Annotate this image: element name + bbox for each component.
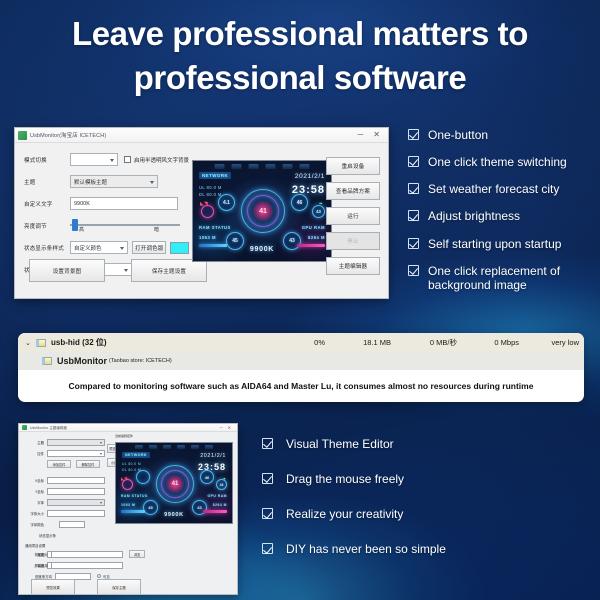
lcd-gauge-5: 45 (226, 232, 244, 250)
label-custom-text: 自定义文字 (24, 200, 70, 208)
editor-lcd-header-decoration (135, 445, 213, 449)
open-palette-button[interactable]: 打开调色版 (132, 241, 166, 254)
list-item: Self starting upon startup (408, 237, 594, 251)
editor-lcd-upload-value: UL 80.0 M (122, 462, 141, 466)
resource-usage-caption: Compared to monitoring software such as … (18, 370, 584, 402)
label-brightness: 亮度调节 (24, 222, 70, 230)
headline-line-1: Leave professional matters to (18, 12, 582, 56)
check-icon (408, 183, 419, 194)
lcd-preview[interactable]: NETWORK UL 80.0 M DL 80.0 M 2021/2/1 23:… (192, 160, 332, 262)
feature-label: Self starting upon startup (428, 237, 561, 251)
lcd-gauge-3: 46 (291, 194, 308, 211)
check-icon (408, 210, 419, 221)
minimize-button[interactable]: ─ (358, 131, 364, 139)
process-name: usb-hid (32 位) (51, 337, 107, 348)
lcd-header-decoration (215, 164, 310, 169)
color-swatch[interactable] (170, 242, 189, 254)
editor-input-y[interactable] (47, 488, 105, 495)
editor-lcd-gpu-bar (203, 510, 227, 513)
stop-button[interactable]: 停止 (326, 232, 380, 250)
list-item: One-button (408, 128, 594, 142)
list-item: Set weather forecast city (408, 182, 594, 196)
stat-disk: 0 MB/秒 (398, 337, 464, 348)
select-statusbar-style[interactable]: 自定义颜色 (70, 241, 128, 254)
feature-label: One click replacement of background imag… (428, 264, 594, 292)
list-item: Visual Theme Editor (262, 437, 592, 451)
editor-select-font[interactable] (47, 499, 105, 506)
form-row-statusbar-style: 状态显示条样式 自定义颜色 打开调色版 (24, 240, 189, 255)
form-row-theme: 主题 默认模板主题 (24, 174, 189, 189)
editor-prop-font: 字体 (25, 498, 105, 506)
editor-input-x[interactable] (47, 477, 105, 484)
page-title: Leave professional matters to profession… (0, 12, 600, 99)
lcd-cpu-core-value: 41 (253, 201, 273, 221)
slider-track (70, 224, 180, 226)
editor-bottom-panel: 背景图片 浏览 屏幕选择 预览效果 保存主题 (25, 550, 175, 595)
editor-label-fontcolor: 字体颜色 (25, 522, 47, 527)
check-icon (408, 265, 419, 276)
editor-app-icon (22, 425, 27, 430)
editor-label-control: 控件 (25, 451, 47, 456)
slider-brightness[interactable]: 高 暗 (70, 219, 180, 233)
editor-label-bgimage: 背景图片 (25, 552, 51, 557)
app-icon (18, 131, 27, 140)
input-custom-text[interactable]: 9900K (70, 197, 178, 210)
list-item: DIY has never been so simple (262, 542, 592, 556)
window-controls: ─ ✕ (358, 131, 385, 139)
select-theme[interactable]: 默认模板主题 (70, 175, 158, 188)
feature-label: One-button (428, 128, 488, 142)
lcd-network-label: NETWORK (199, 172, 231, 179)
editor-title-text: UsbMonitor 主题编辑器 (30, 425, 67, 430)
editor-lcd-cpu-core-value: 41 (166, 475, 184, 493)
editor-close-button[interactable]: ✕ (228, 426, 231, 430)
label-statusbar-style: 状态显示条样式 (24, 244, 70, 252)
editor-lcd-ram-value: 1063 M (121, 503, 135, 507)
check-icon (262, 508, 273, 519)
save-theme-editor-button[interactable]: 保存主题 (97, 579, 141, 595)
check-icon (408, 129, 419, 140)
feature-label: DIY has never been so simple (286, 542, 446, 556)
editor-section-label: 通用项目设置 (25, 543, 105, 548)
label-mode: 模式切换 (24, 156, 70, 164)
theme-editor-button[interactable]: 主题编辑器 (326, 257, 380, 275)
slider-knob[interactable] (72, 219, 78, 231)
table-row-child[interactable]: UsbMonitor (Taobao store: ICETECH) (18, 352, 584, 370)
editor-input-bgimage[interactable] (51, 551, 123, 558)
check-icon (262, 473, 273, 484)
editor-input-fontsize[interactable] (47, 510, 105, 517)
usbmonitor-main-window: UsbMonitor(淘宝店 ICETECH) ─ ✕ 模式切换 启用半透明风文… (14, 127, 389, 299)
editor-prop-statusbar: 状态显示条 (25, 531, 105, 539)
feature-label: Realize your creativity (286, 507, 403, 521)
editor-lcd-cpu-name: 9900K (164, 512, 184, 518)
run-button[interactable]: 运行 (326, 207, 380, 225)
lcd-gauge-6: 43 (283, 232, 301, 250)
feature-label: Set weather forecast city (428, 182, 559, 196)
add-control-button[interactable]: 添加控件 (47, 460, 71, 468)
editor-preview-tab: 当前编辑控件 (115, 434, 133, 438)
check-icon (408, 238, 419, 249)
save-theme-button[interactable]: 保存主题设置 (131, 259, 207, 282)
lcd-canvas: NETWORK UL 80.0 M DL 80.0 M 2021/2/1 23:… (193, 161, 331, 261)
lcd-download-value: DL 80.0 M (199, 192, 222, 197)
lcd-ram-status-label: RAM STATUS (199, 225, 231, 230)
editor-label-fontsize: 字体大小 (25, 511, 47, 516)
process-stats: 0% 18.1 MB 0 MB/秒 0 Mbps very low (280, 337, 584, 348)
slider-label-low: 暗 (154, 226, 159, 233)
editor-label-statusbar: 状态显示条 (25, 533, 59, 538)
editor-lcd-network-label: NETWORK (122, 452, 150, 458)
delete-control-button[interactable]: 删除控件 (76, 460, 100, 468)
set-background-button[interactable]: 设置背景图 (29, 259, 105, 282)
editor-input-screen[interactable] (51, 562, 123, 569)
view-brand-scheme-button[interactable]: 查看品牌方案 (326, 182, 380, 200)
child-process-name: UsbMonitor (57, 356, 107, 366)
lcd-cpu-name: 9900K (250, 246, 274, 253)
lcd-date: 2021/2/1 (295, 173, 325, 180)
editor-input-fontcolor[interactable] (59, 521, 85, 528)
feature-label: One click theme switching (428, 155, 567, 169)
editor-lcd-gauge-6: 43 (192, 500, 207, 515)
rog-logo-icon: ❧ (319, 201, 323, 207)
editor-lcd-gpu-value: 8264 M (213, 503, 227, 507)
stat-cpu: 0% (280, 338, 332, 347)
form-row-custom-text: 自定义文字 9900K (24, 196, 189, 211)
task-manager-card: ⌄ usb-hid (32 位) 0% 18.1 MB 0 MB/秒 0 Mbp… (18, 333, 584, 402)
form-row-brightness: 亮度调节 高 暗 (24, 218, 189, 233)
checkbox-box[interactable] (124, 156, 131, 163)
select-mode[interactable] (70, 153, 118, 166)
amd-logo-icon: ◣◥ (200, 201, 208, 207)
restart-device-button[interactable]: 重启设备 (326, 157, 380, 175)
editor-label-y: Y坐标 (25, 489, 47, 494)
window-title-text: UsbMonitor(淘宝店 ICETECH) (30, 131, 106, 139)
lcd-ram-value: 1063 M (199, 235, 216, 240)
list-item: Drag the mouse freely (262, 472, 592, 486)
headline-line-2: professional software (18, 56, 582, 100)
editor-select-theme[interactable] (47, 439, 105, 446)
editor-prop-y: Y坐标 (25, 487, 105, 495)
editor-lcd-gauge-1 (136, 470, 150, 484)
editor-label-screen: 屏幕选择 (25, 563, 51, 568)
list-item: Adjust brightness (408, 209, 594, 223)
child-process-icon (42, 357, 52, 365)
lcd-gpu-value: 8264 M (308, 235, 325, 240)
editor-lcd-ram-status-label: RAM STATUS (121, 494, 148, 498)
stat-memory: 18.1 MB (332, 338, 398, 347)
editor-lcd-ram-bar (121, 510, 145, 513)
child-process-store: (Taobao store: ICETECH) (109, 358, 172, 364)
editor-label-theme: 主题 (25, 440, 47, 445)
editor-lcd-gauge-3: 46 (200, 470, 214, 484)
editor-window-controls: ─ ✕ (220, 426, 234, 430)
stat-power: very low (526, 338, 584, 347)
editor-lcd-gauge-5: 45 (143, 500, 158, 515)
editor-prop-fontcolor: 字体颜色 (25, 520, 105, 528)
editor-lcd-preview[interactable]: NETWORK UL 80.0 M DL 80.0 M 2021/2/1 23:… (115, 442, 233, 524)
checkbox-label: 启用半透明风文字背景 (134, 156, 189, 164)
editor-prop-fontsize: 字体大小 (25, 509, 105, 517)
lcd-ram-bar (199, 244, 227, 247)
editor-select-control[interactable] (47, 450, 105, 457)
chevron-down-icon[interactable]: ⌄ (25, 339, 36, 347)
check-icon (262, 543, 273, 554)
editor-lcd-date: 2021/2/1 (200, 453, 226, 459)
label-theme: 主题 (24, 178, 70, 186)
table-row[interactable]: ⌄ usb-hid (32 位) 0% 18.1 MB 0 MB/秒 0 Mbp… (18, 333, 584, 352)
feature-list-top: One-button One click theme switching Set… (408, 128, 594, 305)
input-custom-text-value: 9900K (74, 201, 90, 207)
editor-titlebar[interactable]: UsbMonitor 主题编辑器 ─ ✕ (19, 424, 237, 432)
editor-body: 主题 控件 添加控件 删除控件 X坐标 Y坐标 字体 (19, 432, 237, 594)
feature-list-bottom: Visual Theme Editor Drag the mouse freel… (262, 437, 592, 578)
form-row-mode: 模式切换 启用半透明风文字背景 (24, 152, 189, 167)
editor-lcd-gpu-ram-label: GPU RAM (207, 494, 227, 498)
check-icon (262, 438, 273, 449)
editor-amd-logo-icon: ◣◥ (121, 476, 127, 481)
side-action-buttons: 重启设备 查看品牌方案 运行 停止 主题编辑器 (326, 157, 380, 282)
slider-label-high: 高 (79, 226, 84, 233)
editor-minimize-button[interactable]: ─ (220, 426, 223, 430)
window-body: 模式切换 启用半透明风文字背景 主题 默认模板主题 自定义文字 9900K (15, 143, 388, 298)
form-action-buttons: 设置背景图 保存主题设置 (29, 259, 207, 282)
editor-bgimage-row: 背景图片 浏览 (25, 550, 175, 558)
lcd-gpu-ram-label: GPU RAM (302, 225, 325, 230)
check-icon (408, 156, 419, 167)
close-button[interactable]: ✕ (373, 131, 380, 139)
editor-lcd-canvas: NETWORK UL 80.0 M DL 80.0 M 2021/2/1 23:… (116, 443, 232, 523)
feature-label: Visual Theme Editor (286, 437, 394, 451)
list-item: One click replacement of background imag… (408, 264, 594, 292)
lcd-gpu-bar (297, 244, 325, 247)
checkbox-translucent-text-bg[interactable]: 启用半透明风文字背景 (124, 156, 189, 164)
lcd-gauge-1: 4.1 (218, 194, 235, 211)
lcd-upload-value: UL 80.0 M (199, 185, 222, 190)
editor-control-buttons: 添加控件 删除控件 (25, 460, 105, 468)
editor-screen-row: 屏幕选择 (25, 561, 175, 569)
select-theme-value: 默认模板主题 (74, 178, 107, 186)
window-titlebar[interactable]: UsbMonitor(淘宝店 ICETECH) ─ ✕ (15, 128, 388, 143)
editor-label-font: 字体 (25, 500, 47, 505)
stat-network: 0 Mbps (464, 338, 526, 347)
preview-effect-button[interactable]: 预览效果 (31, 579, 75, 595)
browse-button[interactable]: 浏览 (129, 550, 145, 558)
editor-prop-x: X坐标 (25, 476, 105, 484)
theme-editor-window: UsbMonitor 主题编辑器 ─ ✕ 主题 控件 添加控件 删除控件 X坐标 (18, 423, 238, 595)
list-item: One click theme switching (408, 155, 594, 169)
editor-big-buttons: 预览效果 保存主题 (25, 579, 175, 595)
feature-label: Adjust brightness (428, 209, 520, 223)
editor-field-control: 控件 (25, 449, 105, 457)
editor-field-theme: 主题 (25, 438, 105, 446)
select-statusbar-style-value: 自定义颜色 (74, 244, 102, 252)
editor-rog-logo-icon: ❧ (223, 476, 226, 481)
process-icon (36, 339, 46, 347)
list-item: Realize your creativity (262, 507, 592, 521)
editor-label-x: X坐标 (25, 478, 47, 483)
feature-label: Drag the mouse freely (286, 472, 404, 486)
